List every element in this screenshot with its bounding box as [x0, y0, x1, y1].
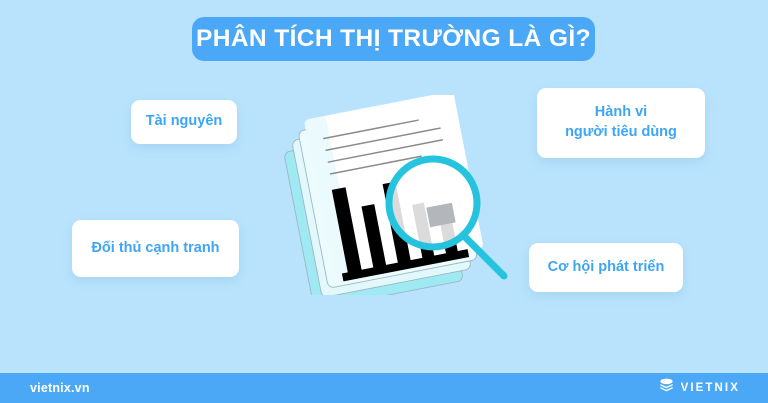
label-card-doi-thu-canh-tranh: Đối thủ cạnh tranh — [72, 220, 239, 277]
label-card-text: Cơ hội phát triển — [548, 258, 665, 278]
footer-website-label: vietnix.vn — [30, 381, 90, 395]
label-card-hanh-vi-nguoi-tieu-dung: Hành vi người tiêu dùng — [537, 88, 705, 158]
label-card-text: Tài nguyên — [146, 112, 223, 132]
magnifier-lens — [389, 159, 477, 247]
page-title: PHÂN TÍCH THỊ TRƯỜNG LÀ GÌ? — [196, 27, 591, 52]
page-title-pill: PHÂN TÍCH THỊ TRƯỜNG LÀ GÌ? — [192, 17, 595, 61]
label-card-text: Đối thủ cạnh tranh — [91, 239, 219, 259]
label-card-tai-nguyen: Tài nguyên — [131, 100, 237, 144]
footer-brand-name: VIETNIX — [681, 382, 740, 394]
stacked-layers-icon — [658, 377, 675, 399]
label-card-text: Hành vi người tiêu dùng — [565, 103, 677, 142]
infographic-canvas: PHÂN TÍCH THỊ TRƯỜNG LÀ GÌ? Tài nguyên Đ… — [0, 0, 768, 403]
footer-brand-logo: VIETNIX — [658, 377, 740, 399]
label-card-co-hoi-phat-trien: Cơ hội phát triển — [529, 243, 683, 292]
document-stack-illustration — [280, 95, 520, 295]
footer-bar: vietnix.vn VIETNIX — [0, 373, 768, 403]
